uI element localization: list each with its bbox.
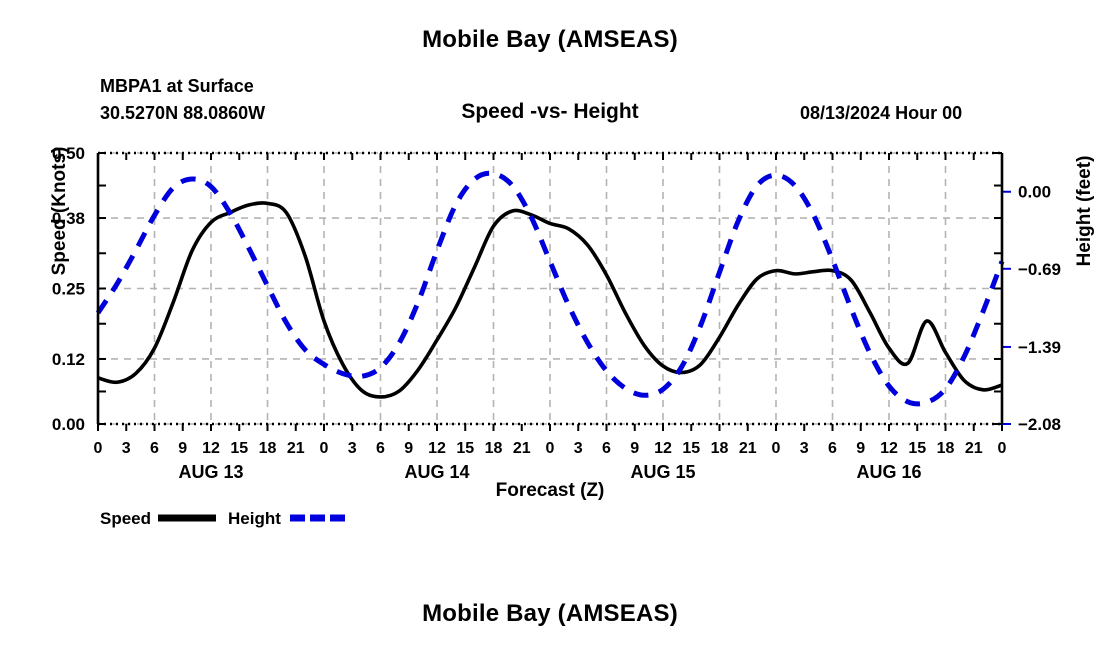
chart-page: Mobile Bay (AMSEAS) MBPA1 at Surface 30.… [0,0,1100,650]
y-tick-label: 0.12 [52,350,85,369]
x-tick-label: 9 [178,440,187,457]
y-tick-label-right: −0.69 [1018,260,1061,279]
x-tick-label: 21 [965,440,983,457]
x-tick-label: 18 [711,440,729,457]
chart-legend: SpeedHeight [100,509,348,528]
x-tick-label: 3 [122,440,131,457]
x-tick-label: 12 [428,440,446,457]
day-label: AUG 16 [856,462,921,482]
x-tick-label: 6 [376,440,385,457]
x-tick-label: 15 [456,440,474,457]
day-label: AUG 13 [178,462,243,482]
y-tick-label: 0.50 [52,144,85,163]
x-tick-label: 0 [772,440,781,457]
x-tick-label: 3 [574,440,583,457]
day-label: AUG 14 [404,462,469,482]
x-tick-label: 12 [654,440,672,457]
x-tick-label: 18 [937,440,955,457]
y-tick-label: 0.38 [52,209,85,228]
day-labels: AUG 13AUG 14AUG 15AUG 16 [178,462,921,482]
axis-ticks [98,153,1011,431]
x-tick-label: 0 [320,440,329,457]
x-tick-label: 21 [513,440,531,457]
x-tick-label: 3 [348,440,357,457]
x-tick-label: 9 [404,440,413,457]
x-tick-label: 0 [998,440,1007,457]
legend-label-height: Height [228,509,281,528]
x-tick-label: 3 [800,440,809,457]
y-tick-label: 0.25 [52,280,85,299]
y-tick-label-right: −1.39 [1018,338,1061,357]
page-title-bottom: Mobile Bay (AMSEAS) [0,600,1100,628]
y-tick-label-right: −2.08 [1018,415,1061,434]
y-tick-label-right: 0.00 [1018,183,1051,202]
x-tick-label: 15 [908,440,926,457]
x-tick-label: 0 [94,440,103,457]
x-tick-label: 12 [880,440,898,457]
x-tick-label: 21 [739,440,757,457]
chart-plot-area: 0.000.120.250.380.50−2.08−1.39−0.690.00 … [0,0,1100,650]
x-tick-label: 6 [828,440,837,457]
x-tick-label: 9 [856,440,865,457]
x-tick-label: 18 [485,440,503,457]
x-tick-label: 18 [259,440,277,457]
x-tick-label: 15 [682,440,700,457]
x-tick-label: 6 [602,440,611,457]
day-label: AUG 15 [630,462,695,482]
gridlines [98,153,1002,424]
x-tick-label: 12 [202,440,220,457]
x-tick-label: 0 [546,440,555,457]
y-tick-label: 0.00 [52,415,85,434]
legend-label-speed: Speed [100,509,151,528]
x-tick-label: 6 [150,440,159,457]
x-tick-label: 15 [230,440,248,457]
x-tick-label: 21 [287,440,305,457]
x-tick-label: 9 [630,440,639,457]
x-tick-labels: 0369121518210369121518210369121518210369… [94,440,1007,457]
